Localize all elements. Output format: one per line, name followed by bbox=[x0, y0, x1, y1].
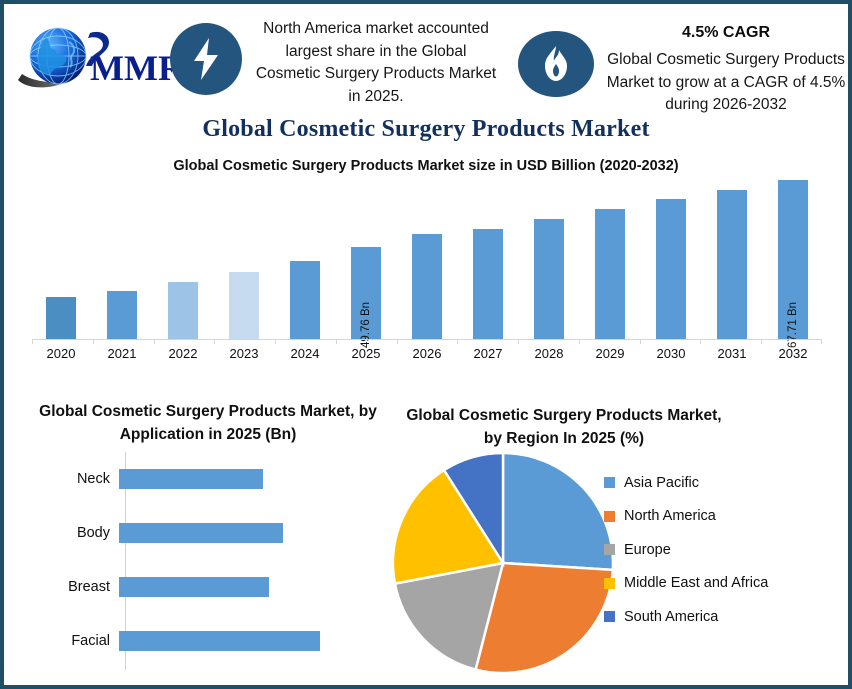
infographic-page: MMR North America market accounted large… bbox=[0, 0, 852, 689]
application-bar-chart: Global Cosmetic Surgery Products Market,… bbox=[8, 396, 408, 686]
cagr-badge: 4.5% CAGR bbox=[600, 24, 852, 42]
pie-legend: Asia PacificNorth AmericaEuropeMiddle Ea… bbox=[604, 466, 848, 634]
x-tick-label-2028: 2028 bbox=[520, 342, 578, 361]
bar-2029 bbox=[595, 209, 625, 339]
chart-title: Global Cosmetic Surgery Products Market … bbox=[4, 158, 848, 174]
hbar-row: Breast bbox=[8, 560, 398, 614]
hbar-facial bbox=[119, 631, 320, 651]
pie-graphic bbox=[390, 450, 616, 676]
legend-item-asia-pacific: Asia Pacific bbox=[604, 466, 848, 500]
x-tick-label-2020: 2020 bbox=[32, 342, 90, 361]
x-tick-label-2032: 2032 bbox=[764, 342, 822, 361]
legend-item-middle-east-and-africa: Middle East and Africa bbox=[604, 567, 848, 601]
legend-swatch-icon bbox=[604, 511, 615, 522]
x-tick-label-2026: 2026 bbox=[398, 342, 456, 361]
hbar-neck bbox=[119, 469, 263, 489]
legend-item-south-america: South America bbox=[604, 600, 848, 634]
bar-slot bbox=[581, 184, 639, 339]
region-pie-chart: Global Cosmetic Surgery Products Market,… bbox=[396, 400, 852, 686]
bar-slot bbox=[154, 184, 212, 339]
legend-label: North America bbox=[624, 508, 716, 524]
bar-2022 bbox=[168, 282, 198, 339]
x-tick-label-2023: 2023 bbox=[215, 342, 273, 361]
header-left-note: North America market accounted largest s… bbox=[254, 18, 498, 108]
x-tick-label-2031: 2031 bbox=[703, 342, 761, 361]
bar-slot: 49.76 Bn bbox=[337, 184, 395, 339]
bar-slot bbox=[520, 184, 578, 339]
globe-swoosh-logo-icon: MMR bbox=[12, 18, 172, 96]
hbar-plot-area: NeckBodyBreastFacial bbox=[8, 452, 398, 674]
legend-label: South America bbox=[624, 609, 718, 625]
legend-swatch-icon bbox=[604, 477, 615, 488]
lightning-bolt-icon bbox=[170, 23, 242, 95]
bar-slot bbox=[398, 184, 456, 339]
mmr-logo: MMR bbox=[12, 18, 172, 96]
header-right-note: Global Cosmetic Surgery Products Market … bbox=[600, 49, 852, 117]
bar-slot bbox=[459, 184, 517, 339]
svg-text:MMR: MMR bbox=[90, 48, 172, 88]
bar-2030 bbox=[656, 199, 686, 339]
hbar-label-neck: Neck bbox=[8, 471, 118, 487]
hbar-row: Neck bbox=[8, 452, 398, 506]
bar-slot: 67.71 Bn bbox=[764, 184, 822, 339]
x-tick-label-2030: 2030 bbox=[642, 342, 700, 361]
legend-label: Europe bbox=[624, 542, 671, 558]
bar-slot bbox=[215, 184, 273, 339]
hbar-label-breast: Breast bbox=[8, 579, 118, 595]
bar-slot bbox=[642, 184, 700, 339]
bar-slot bbox=[32, 184, 90, 339]
bar-2026 bbox=[412, 234, 442, 339]
bar-2020 bbox=[46, 297, 76, 339]
hbar-row: Body bbox=[8, 506, 398, 560]
bar-2027 bbox=[473, 229, 503, 339]
legend-label: Middle East and Africa bbox=[624, 575, 768, 591]
page-title: Global Cosmetic Surgery Products Market bbox=[4, 116, 848, 143]
flame-icon bbox=[518, 31, 594, 97]
x-tick-label-2027: 2027 bbox=[459, 342, 517, 361]
bar-plot-area: 49.76 Bn67.71 Bn bbox=[32, 184, 822, 339]
hbar-body bbox=[119, 523, 283, 543]
legend-label: Asia Pacific bbox=[624, 475, 699, 491]
chart-title: Global Cosmetic Surgery Products Market,… bbox=[18, 400, 398, 446]
flame-glyph bbox=[541, 45, 571, 83]
legend-item-north-america: North America bbox=[604, 500, 848, 534]
x-tick-label-2024: 2024 bbox=[276, 342, 334, 361]
hbar-label-facial: Facial bbox=[8, 633, 118, 649]
hbar-breast bbox=[119, 577, 269, 597]
hbar-row: Facial bbox=[8, 614, 398, 668]
x-tick-label-2022: 2022 bbox=[154, 342, 212, 361]
x-axis-line bbox=[32, 339, 822, 340]
x-tick-label-2029: 2029 bbox=[581, 342, 639, 361]
bar-2031 bbox=[717, 190, 747, 339]
x-axis-labels: 2020202120222023202420252026202720282029… bbox=[32, 342, 822, 361]
hbar-label-body: Body bbox=[8, 525, 118, 541]
header: MMR North America market accounted large… bbox=[4, 4, 848, 112]
x-tick-label-2025: 2025 bbox=[337, 342, 395, 361]
legend-item-europe: Europe bbox=[604, 533, 848, 567]
x-tick-label-2021: 2021 bbox=[93, 342, 151, 361]
bar-2025: 49.76 Bn bbox=[351, 247, 381, 339]
bar-slot bbox=[93, 184, 151, 339]
lightning-bolt-glyph bbox=[189, 37, 223, 81]
bar-2024 bbox=[290, 261, 320, 339]
pie-slice-asia-pacific bbox=[503, 453, 613, 570]
chart-title: Global Cosmetic Surgery Products Market,… bbox=[404, 404, 724, 450]
bar-2032: 67.71 Bn bbox=[778, 180, 808, 339]
bar-slot bbox=[276, 184, 334, 339]
bar-2023 bbox=[229, 272, 259, 339]
bar-2028 bbox=[534, 219, 564, 339]
market-size-bar-chart: Global Cosmetic Surgery Products Market … bbox=[4, 152, 848, 380]
legend-swatch-icon bbox=[604, 578, 615, 589]
legend-swatch-icon bbox=[604, 611, 615, 622]
bar-2021 bbox=[107, 291, 137, 339]
legend-swatch-icon bbox=[604, 544, 615, 555]
bar-slot bbox=[703, 184, 761, 339]
